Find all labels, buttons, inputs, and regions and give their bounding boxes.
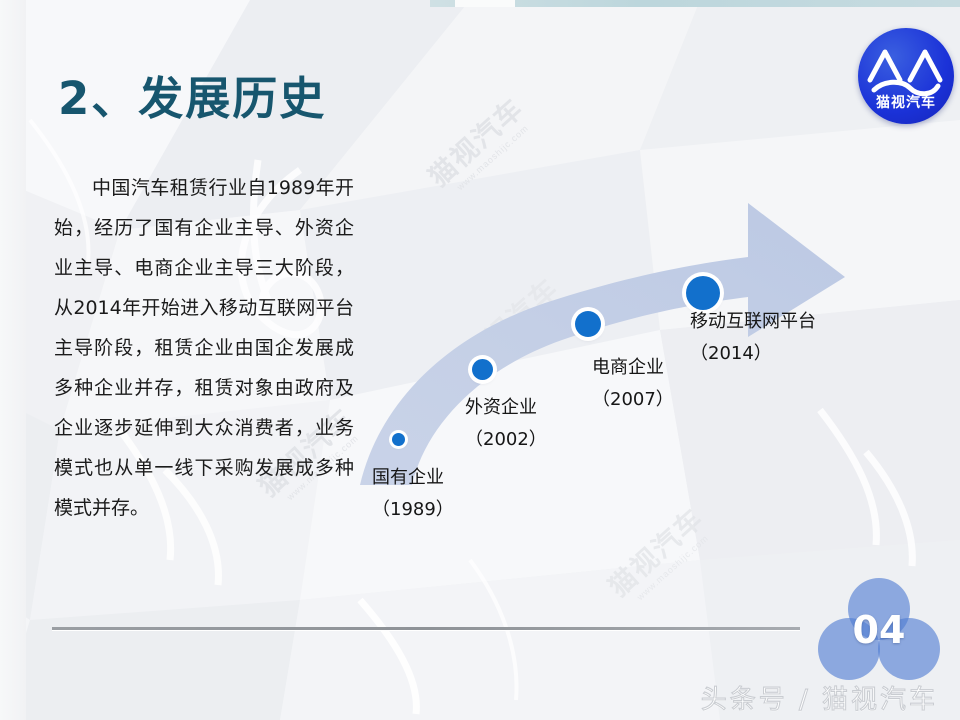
watermark-text: 猫视汽车 (603, 503, 709, 603)
chart-label-2007: 电商企业 （2007） (592, 352, 674, 416)
diagonal-watermark: 猫视汽车 www.maoshijc.com (599, 497, 718, 611)
page-title: 2、发展历史 (58, 62, 326, 127)
divider (52, 627, 800, 630)
footer-watermark: 头条号 / 猫视汽车 (701, 679, 938, 716)
watermark-url: www.maoshijc.com (455, 107, 548, 192)
brand-logo[interactable]: 猫视汽车 (858, 28, 954, 124)
slide: 猫视汽车 www.maoshijc.com 猫视汽车 www.maoshijc.… (0, 0, 960, 720)
chart-marker-2014[interactable] (686, 276, 720, 310)
logo-label: 猫视汽车 (858, 92, 954, 112)
page-number: 04 (818, 578, 940, 682)
left-edge-strip (0, 0, 26, 720)
top-accent-bar-notch (455, 0, 515, 7)
page-number-badge: 04 (818, 578, 940, 682)
chart-label-2014: 移动互联网平台（2014） (690, 306, 830, 370)
chart-marker-1989[interactable] (392, 433, 405, 446)
body-paragraph: 中国汽车租赁行业自1989年开始，经历了国有企业主导、外资企业主导、电商企业主导… (54, 168, 354, 528)
watermark-text: 猫视汽车 (423, 93, 529, 193)
chart-label-2002: 外资企业 （2002） (465, 392, 547, 456)
chart-marker-2002[interactable] (472, 359, 493, 380)
chart-label-1989: 国有企业 （1989） (372, 462, 454, 526)
chart-marker-2007[interactable] (575, 311, 601, 337)
watermark-url: www.maoshijc.com (635, 517, 728, 602)
